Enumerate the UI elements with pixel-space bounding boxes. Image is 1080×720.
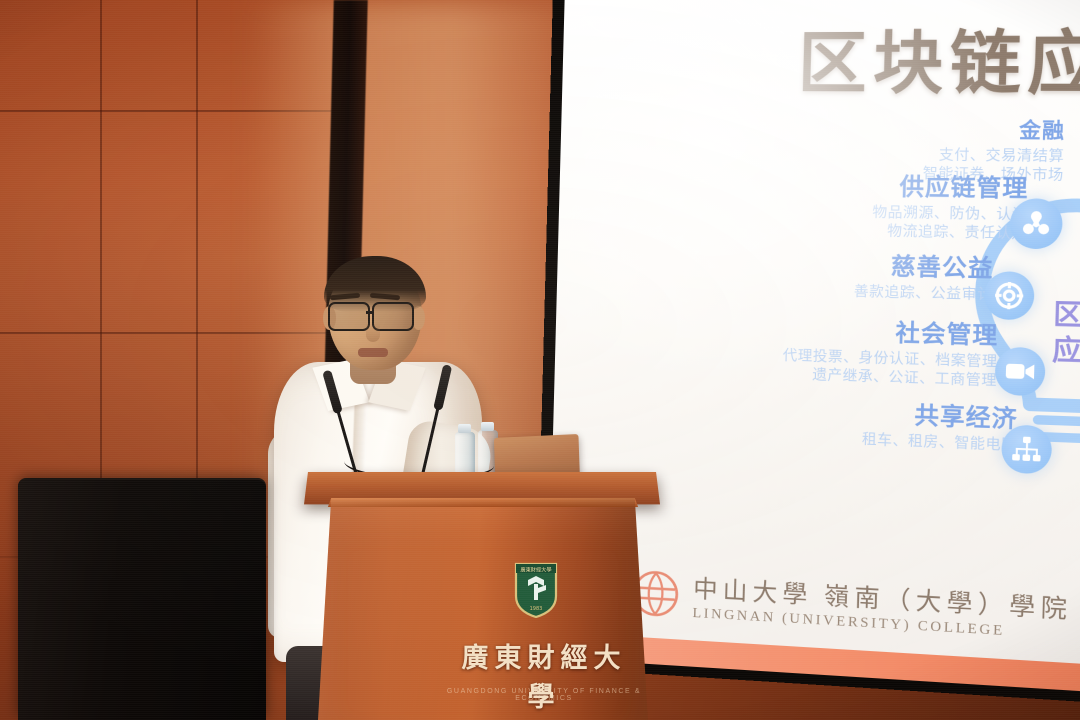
university-crest-icon: 廣東財經大學 1983 (514, 560, 558, 618)
topic-supply-chain: 供应链管理 物品溯源、防伪、认证物流追踪、责任认定 (872, 175, 1029, 243)
presenter-nose (366, 322, 380, 342)
pa-speaker-cabinet (18, 480, 266, 720)
wall-seam (196, 0, 198, 480)
bottle-cap (481, 422, 494, 431)
topic-sharing-economy-heading: 共享经济 (862, 402, 1018, 431)
svg-text:廣東財經大學: 廣東財經大學 (520, 566, 551, 574)
bottle-cap (458, 424, 471, 433)
slide-footer-logo: 中山大學 嶺南（大學）學院 LINGNAN (UNIVERSITY) COLLE… (632, 565, 1073, 644)
presenter-mouth (358, 348, 388, 357)
podium-lip (318, 498, 648, 507)
photo-scene: 区块链应 区应 金融 支付、交易清结算智能证券、场外市场 供应链管理 物品溯源、… (0, 0, 1080, 720)
topic-supply-chain-heading: 供应链管理 (873, 175, 1029, 201)
wall-seam (100, 0, 102, 480)
glasses-bridge (366, 311, 374, 314)
topic-supply-chain-subtitle: 物品溯源、防伪、认证物流追踪、责任认定 (872, 202, 1028, 242)
topic-finance-heading: 金融 (924, 120, 1066, 142)
topic-charity: 慈善公益 善款追踪、公益审计 (854, 254, 994, 304)
svg-text:1983: 1983 (530, 606, 543, 612)
topic-social-management: 社会管理 代理投票、身份认证、档案管理遗产继承、公证、工商管理 (782, 318, 999, 390)
podium-english-name: GUANGDONG UNIVERSITY OF FINANCE & ECONOM… (442, 688, 646, 702)
topic-sharing-economy: 共享经济 租车、租房、智能电网 (862, 402, 1018, 455)
topic-social-management-heading: 社会管理 (783, 318, 998, 348)
topic-charity-heading: 慈善公益 (854, 254, 994, 281)
slide-title: 区块链应 (797, 7, 1080, 109)
network-icon (1001, 424, 1052, 474)
podium-chinese-name: 廣東財經大學 (452, 636, 636, 714)
topic-sharing-economy-subtitle: 租车、租房、智能电网 (862, 430, 1018, 455)
lens-left (328, 302, 370, 331)
topic-charity-subtitle: 善款追踪、公益审计 (854, 282, 994, 304)
bulb-label: 区应 (1052, 298, 1080, 372)
topic-social-management-subtitle: 代理投票、身份认证、档案管理遗产继承、公证、工商管理 (782, 346, 998, 390)
